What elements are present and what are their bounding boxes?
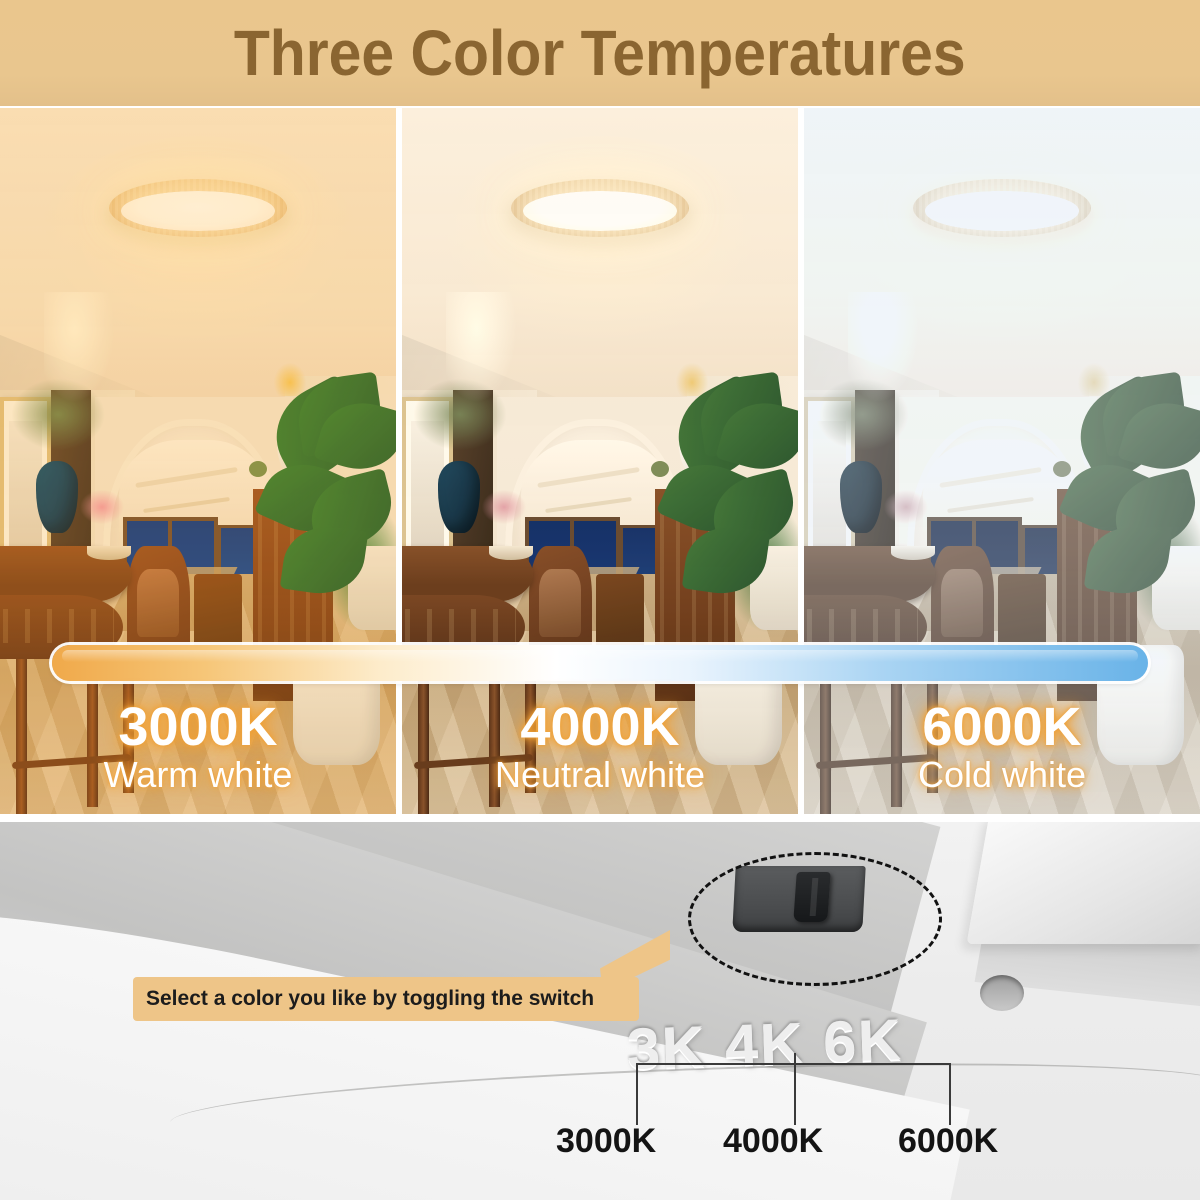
leader-line-4000k [794, 1053, 796, 1125]
kelvin-value-3000k: 3000K [0, 700, 396, 755]
kelvin-name-6000k: Cold white [804, 755, 1200, 795]
leader-line-6000k [949, 1063, 951, 1125]
caption-4000k: 4000K Neutral white [402, 700, 798, 795]
fixture-right-block [967, 822, 1200, 944]
highlight-ellipse [688, 852, 942, 986]
kelvin-name-3000k: Warm white [0, 755, 396, 795]
switch-label-6000k: 6000K [898, 1122, 998, 1161]
color-temperature-infographic: Three Color Temperatures [0, 0, 1200, 1200]
kelvin-value-4000k: 4000K [402, 700, 798, 755]
mounting-hole [980, 975, 1024, 1011]
instruction-text: Select a color you like by toggling the … [133, 987, 594, 1011]
leader-line-3000k [636, 1063, 638, 1125]
switch-label-3000k: 3000K [556, 1122, 656, 1161]
instruction-callout: Select a color you like by toggling the … [133, 977, 639, 1021]
kelvin-name-4000k: Neutral white [402, 755, 798, 795]
caption-6000k: 6000K Cold white [804, 700, 1200, 795]
caption-3000k: 3000K Warm white [0, 700, 396, 795]
page-title: Three Color Temperatures [234, 21, 966, 85]
gradient-bar-gloss [62, 650, 1138, 662]
switch-label-4000k: 4000K [723, 1122, 823, 1161]
kelvin-value-6000k: 6000K [804, 700, 1200, 755]
color-temperature-gradient-bar [52, 645, 1148, 681]
header-banner: Three Color Temperatures [0, 0, 1200, 106]
